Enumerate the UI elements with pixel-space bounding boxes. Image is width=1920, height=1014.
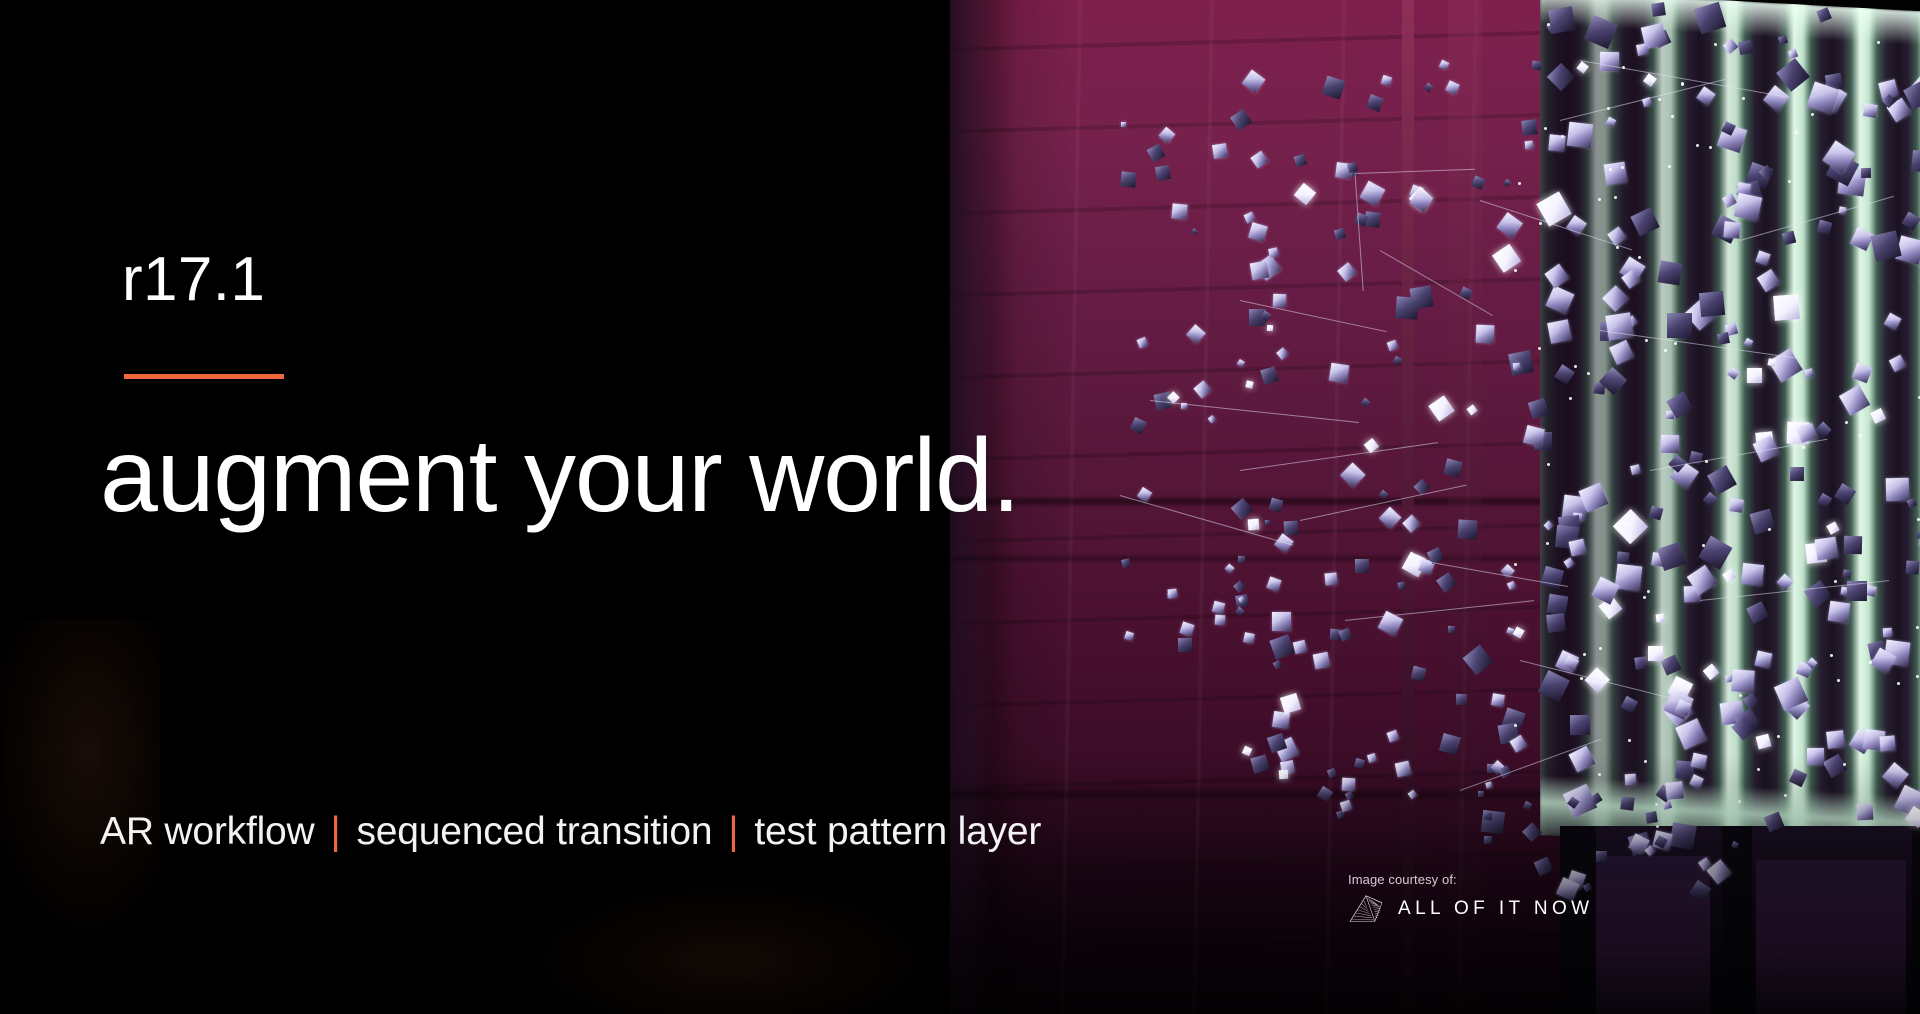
- page-title: augment your world.: [100, 424, 1019, 528]
- credit-company-name: ALL OF IT NOW: [1398, 898, 1594, 920]
- feature-item-sequenced-transition: sequenced transition: [356, 812, 712, 851]
- feature-separator: |: [331, 812, 341, 851]
- accent-rule: [124, 374, 284, 379]
- credit-logo-row: ALL OF IT NOW: [1348, 894, 1594, 924]
- release-banner: r17.1 augment your world. AR workflow | …: [0, 0, 1920, 1014]
- image-credit-label: Image courtesy of:: [1348, 872, 1594, 887]
- feature-list: AR workflow | sequenced transition | tes…: [100, 812, 1041, 851]
- feature-item-test-pattern-layer: test pattern layer: [754, 812, 1041, 851]
- banner-content: r17.1 augment your world. AR workflow | …: [0, 0, 1920, 1014]
- version-label: r17.1: [122, 249, 265, 311]
- feature-item-ar-workflow: AR workflow: [100, 812, 315, 851]
- image-credit: Image courtesy of:: [1348, 872, 1594, 924]
- feature-separator: |: [728, 812, 738, 851]
- prism-logo-icon: [1348, 894, 1384, 924]
